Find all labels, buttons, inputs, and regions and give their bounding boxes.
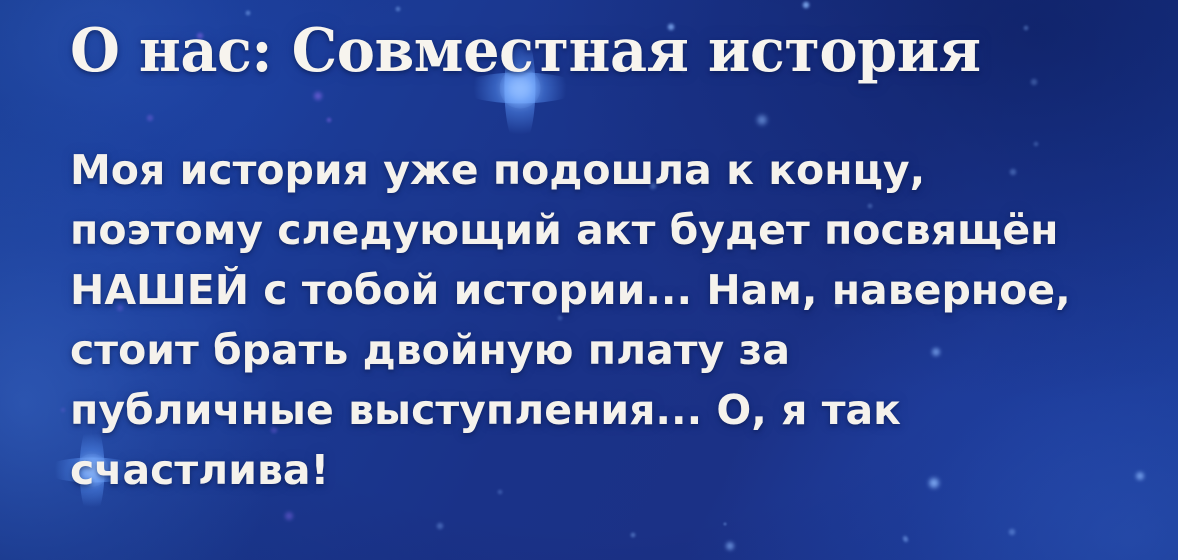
slide-body-line: Моя история уже подошла к концу,	[70, 140, 1160, 200]
slide-body-line: НАШЕЙ с тобой истории... Нам, наверное,	[70, 260, 1160, 320]
slide-body-line: публичные выступления... О, я так	[70, 380, 1160, 440]
slide-body-line: стоит брать двойную плату за	[70, 320, 1160, 380]
presentation-slide: О нас: Совместная история Моя история уж…	[0, 0, 1178, 560]
slide-body-line: поэтому следующий акт будет посвящён	[70, 200, 1160, 260]
slide-body-line: счастлива!	[70, 440, 1160, 500]
slide-body-text: Моя история уже подошла к концу,поэтому …	[70, 140, 1160, 500]
slide-title: О нас: Совместная история	[70, 19, 981, 84]
slide-content: О нас: Совместная история Моя история уж…	[0, 0, 1178, 560]
